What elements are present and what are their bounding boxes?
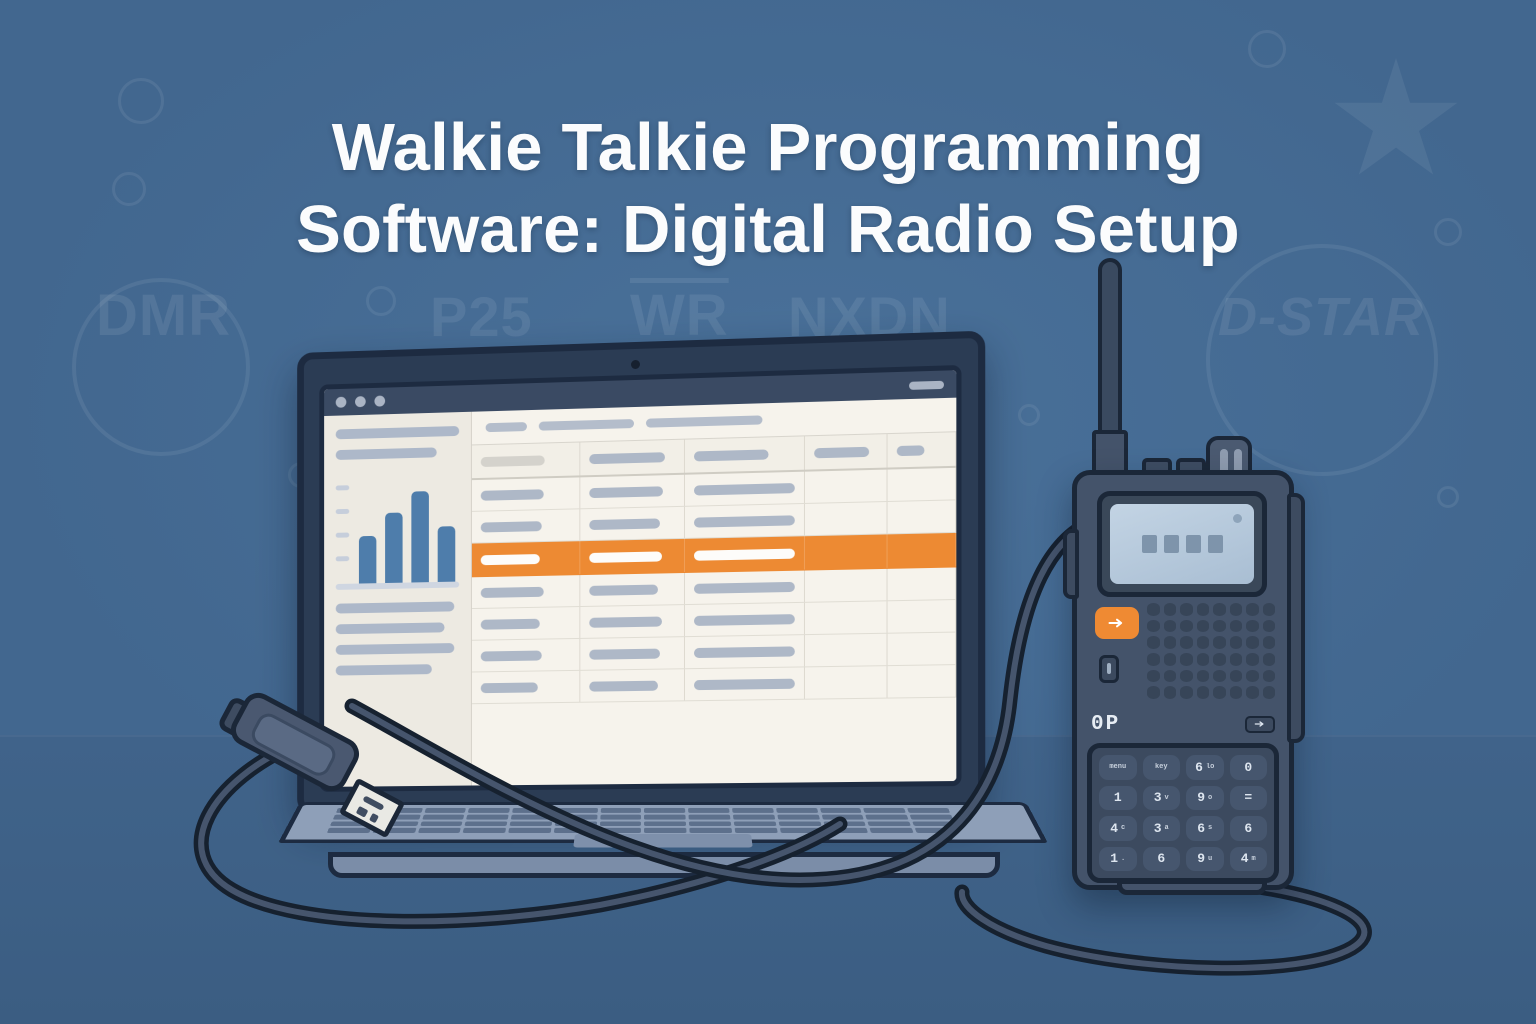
table-cell[interactable] <box>685 603 805 636</box>
laptop-bezel <box>319 365 961 792</box>
table-cell[interactable] <box>685 536 805 572</box>
watermark-p25: P25 <box>430 284 533 349</box>
close-dot-icon[interactable] <box>336 397 347 408</box>
handheld-digital-radio: 0P menukey6lo013v9o=4c3a6s61.69u4m <box>1062 258 1312 908</box>
speaker-hole <box>1230 670 1243 683</box>
maximize-dot-icon[interactable] <box>374 396 385 407</box>
keyboard-key[interactable] <box>508 828 551 833</box>
keypad-key-digit: 4 <box>1110 821 1118 836</box>
table-cell-value <box>481 521 542 532</box>
table-header-cell-3[interactable] <box>685 436 805 472</box>
speaker-hole <box>1263 603 1276 616</box>
keyboard-key[interactable] <box>644 808 685 813</box>
keypad-key-digit: = <box>1244 790 1252 805</box>
table-cell-value <box>481 489 544 500</box>
table-cell-value <box>694 646 794 658</box>
table-cell[interactable] <box>805 634 888 667</box>
speaker-hole <box>1246 670 1259 683</box>
decorative-ring-5 <box>1248 30 1286 68</box>
monitor-button[interactable] <box>1099 655 1119 683</box>
table-cell[interactable] <box>805 601 888 634</box>
radio-body: 0P menukey6lo013v9o=4c3a6s61.69u4m <box>1072 470 1294 890</box>
keyboard-key[interactable] <box>688 808 729 813</box>
keyboard-key[interactable] <box>733 815 775 820</box>
table-cell-value <box>481 554 540 565</box>
speaker-hole <box>1230 653 1243 666</box>
keypad-key-14[interactable]: 6 <box>1143 847 1181 872</box>
speaker-hole <box>1230 620 1243 633</box>
table-cell[interactable] <box>580 669 685 702</box>
keyboard-key[interactable] <box>510 821 553 826</box>
speaker-hole <box>1147 670 1160 683</box>
speaker-hole <box>1164 686 1177 699</box>
keyboard-key[interactable] <box>645 828 687 833</box>
keyboard-key[interactable] <box>912 821 956 826</box>
keyboard-row-4 <box>327 828 959 833</box>
ptt-icon <box>1107 617 1127 629</box>
channel-table-panel <box>472 398 956 786</box>
table-cell[interactable] <box>685 635 805 668</box>
speaker-hole <box>1213 686 1226 699</box>
speaker-hole <box>1263 653 1276 666</box>
radio-side-rail <box>1287 493 1305 743</box>
keyboard-key[interactable] <box>825 828 869 833</box>
keyboard-key[interactable] <box>734 821 777 826</box>
table-cell[interactable] <box>888 600 956 633</box>
keyboard-key[interactable] <box>821 815 864 820</box>
keyboard-key[interactable] <box>777 815 819 820</box>
keyboard-key[interactable] <box>420 821 463 826</box>
keypad-key-sublabel: s <box>1208 824 1212 832</box>
speaker-hole <box>1197 670 1210 683</box>
lcd-segment-3 <box>1186 535 1201 553</box>
laptop-keyboard[interactable] <box>327 808 959 833</box>
speaker-hole <box>1197 686 1210 699</box>
keypad-key-sublabel: u <box>1208 855 1212 863</box>
table-cell[interactable] <box>685 667 805 700</box>
keyboard-key[interactable] <box>690 828 733 833</box>
keyboard-key[interactable] <box>910 815 953 820</box>
table-cell[interactable] <box>805 534 888 569</box>
speaker-hole <box>1197 603 1210 616</box>
speaker-hole <box>1180 686 1193 699</box>
keypad-key-digit: 4 <box>1241 851 1249 866</box>
mini-function-icon <box>1253 720 1267 728</box>
keypad-key-sublabel: o <box>1208 794 1212 802</box>
toolbar-chip-2[interactable] <box>539 419 634 431</box>
keypad-key-sublabel: menu <box>1109 763 1126 771</box>
keyboard-key[interactable] <box>600 815 641 820</box>
keyboard-key[interactable] <box>645 821 687 826</box>
page-title: Walkie Talkie Programming Software: Digi… <box>0 107 1536 270</box>
table-cell-value <box>694 515 794 527</box>
table-cell-value <box>481 650 542 661</box>
keypad-key-digit: 9 <box>1197 790 1205 805</box>
keypad-key-11[interactable]: 6s <box>1186 816 1224 841</box>
table-cell[interactable] <box>580 605 685 638</box>
speaker-grille <box>1147 603 1275 699</box>
usb-contact-3 <box>369 813 379 823</box>
speaker-hole <box>1263 670 1276 683</box>
keypad-key-5[interactable]: 1 <box>1099 786 1137 811</box>
table-cell-value <box>589 680 658 691</box>
keyboard-key[interactable] <box>778 821 821 826</box>
mini-function-button[interactable] <box>1245 716 1275 733</box>
usb-adapter-inset <box>248 709 340 779</box>
table-cell[interactable] <box>805 569 888 602</box>
table-cell[interactable] <box>888 500 956 533</box>
keypad-key-digit: 3 <box>1154 821 1162 836</box>
speaker-hole <box>1147 636 1160 649</box>
table-header-label-5 <box>897 445 924 456</box>
table-header-cell-4[interactable] <box>805 434 888 470</box>
laptop-screen <box>324 370 956 787</box>
table-cell[interactable] <box>685 571 805 605</box>
keyboard-key[interactable] <box>907 808 950 813</box>
speaker-hole <box>1213 636 1226 649</box>
table-cell-value <box>589 584 658 595</box>
table-cell-value <box>694 548 794 560</box>
keypad-key-7[interactable]: 9o <box>1186 786 1224 811</box>
speaker-hole <box>1180 620 1193 633</box>
lcd-segment-4 <box>1208 535 1223 553</box>
speaker-hole <box>1263 636 1276 649</box>
table-cell[interactable] <box>580 475 685 509</box>
keypad-key-16[interactable]: 4m <box>1230 847 1268 872</box>
sidebar-label-bottom-2 <box>336 622 445 634</box>
chart-bar-4 <box>438 526 456 582</box>
table-header-label-4 <box>814 446 869 458</box>
lcd-segment-2 <box>1164 535 1179 553</box>
sidebar-top-labels <box>336 426 459 460</box>
antenna-icon <box>1098 258 1122 438</box>
speaker-hole <box>1213 653 1226 666</box>
speaker-hole <box>1180 636 1193 649</box>
keyboard-key[interactable] <box>870 828 914 833</box>
keyboard-key[interactable] <box>554 828 597 833</box>
table-body[interactable] <box>472 468 956 704</box>
table-cell[interactable] <box>472 639 580 672</box>
keyboard-key[interactable] <box>823 821 866 826</box>
keypad-key-12[interactable]: 6 <box>1230 816 1268 841</box>
table-cell[interactable] <box>580 573 685 606</box>
speaker-hole <box>1197 636 1210 649</box>
keyboard-key[interactable] <box>555 821 597 826</box>
table-cell[interactable] <box>472 607 580 640</box>
table-cell-value <box>589 518 660 530</box>
table-cell-value <box>589 616 661 627</box>
keypad-key-digit: 9 <box>1197 851 1205 866</box>
speaker-hole <box>1147 620 1160 633</box>
table-cell-value <box>481 586 544 597</box>
speaker-hole <box>1180 603 1193 616</box>
table-cell[interactable] <box>888 468 956 501</box>
table-row[interactable] <box>472 665 956 704</box>
table-cell[interactable] <box>472 509 580 542</box>
table-cell[interactable] <box>805 470 888 503</box>
speaker-hole <box>1164 620 1177 633</box>
speaker-hole <box>1147 653 1160 666</box>
radio-lcd-display <box>1110 504 1254 584</box>
keyboard-key[interactable] <box>511 815 553 820</box>
speaker-hole <box>1230 686 1243 699</box>
speaker-hole <box>1230 603 1243 616</box>
table-cell[interactable] <box>888 533 956 568</box>
chart-bar-3 <box>411 492 429 583</box>
speaker-hole <box>1263 686 1276 699</box>
sidebar-label-top-2 <box>336 447 437 460</box>
keypad-key-digit: 1 <box>1110 851 1118 866</box>
page-title-line-1: Walkie Talkie Programming <box>332 110 1205 185</box>
minimize-dot-icon[interactable] <box>355 396 366 407</box>
speaker-hole <box>1263 620 1276 633</box>
table-cell[interactable] <box>888 665 956 697</box>
speaker-hole <box>1213 670 1226 683</box>
keypad-key-4[interactable]: 0 <box>1230 755 1268 780</box>
lcd-segment-1 <box>1142 535 1157 553</box>
radio-display-label: 0P <box>1091 713 1120 736</box>
speaker-hole <box>1147 603 1160 616</box>
window-control-pill-icon[interactable] <box>909 380 944 389</box>
keypad-key-digit: 3 <box>1154 790 1162 805</box>
speaker-hole <box>1164 670 1177 683</box>
keyboard-key[interactable] <box>732 808 774 813</box>
speaker-hole <box>1197 653 1210 666</box>
keyboard-key[interactable] <box>915 828 959 833</box>
keyboard-key[interactable] <box>689 815 731 820</box>
table-cell-value <box>589 551 661 563</box>
radio-bottom-clip <box>1117 879 1267 895</box>
antenna-base <box>1092 430 1128 474</box>
radio-keypad[interactable]: menukey6lo013v9o=4c3a6s61.69u4m <box>1087 743 1279 883</box>
chart-bar-2 <box>385 513 402 583</box>
keypad-key-10[interactable]: 3a <box>1143 816 1181 841</box>
chart-y-tick-1 <box>336 485 350 490</box>
keyboard-key[interactable] <box>512 808 554 813</box>
table-header-cell-1[interactable] <box>472 442 580 478</box>
speaker-hole <box>1213 603 1226 616</box>
keyboard-key[interactable] <box>466 815 508 820</box>
toolbar-chip-1[interactable] <box>486 422 527 432</box>
table-header-label-1 <box>481 455 545 467</box>
table-cell[interactable] <box>685 472 805 506</box>
decorative-ring-7 <box>1437 486 1459 508</box>
table-cell-value <box>481 618 540 629</box>
table-header-label-2 <box>589 452 665 464</box>
chart-y-tick-2 <box>336 509 350 514</box>
table-cell[interactable] <box>888 633 956 666</box>
keypad-key-digit: 0 <box>1244 760 1252 775</box>
table-cell[interactable] <box>805 502 888 535</box>
keypad-key-3[interactable]: 6lo <box>1186 755 1224 780</box>
trackpad[interactable] <box>573 834 753 848</box>
keyboard-key[interactable] <box>424 808 466 813</box>
chart-baseline <box>336 582 459 590</box>
table-cell-value <box>481 682 538 693</box>
table-cell[interactable] <box>888 567 956 600</box>
table-cell[interactable] <box>472 671 580 703</box>
keyboard-key[interactable] <box>689 821 731 826</box>
keyboard-row-3 <box>330 821 956 826</box>
keyboard-key[interactable] <box>465 821 508 826</box>
table-cell[interactable] <box>805 666 888 699</box>
keypad-key-15[interactable]: 9u <box>1186 847 1224 872</box>
ptt-button[interactable] <box>1095 607 1139 639</box>
keyboard-key[interactable] <box>863 808 906 813</box>
keypad-key-digit: 1 <box>1114 790 1122 805</box>
table-cell[interactable] <box>580 539 685 574</box>
usb-contact-2 <box>356 806 369 818</box>
decorative-ring-4 <box>366 286 396 316</box>
keyboard-key[interactable] <box>735 828 778 833</box>
keypad-key-sublabel: . <box>1121 855 1125 863</box>
table-cell[interactable] <box>472 575 580 608</box>
table-cell[interactable] <box>472 541 580 576</box>
keypad-key-digit: 6 <box>1195 760 1203 775</box>
speaker-hole <box>1246 653 1259 666</box>
speaker-hole <box>1197 620 1210 633</box>
keypad-key-sublabel: a <box>1165 824 1169 832</box>
sidebar-bar-chart <box>336 469 459 590</box>
keyboard-key[interactable] <box>868 821 911 826</box>
keyboard-key[interactable] <box>556 808 597 813</box>
usb-cable-housing <box>215 700 395 850</box>
table-header-cell-5[interactable] <box>888 432 956 467</box>
monitor-button-ridge <box>1107 663 1111 674</box>
keyboard-key[interactable] <box>463 828 506 833</box>
laptop-front-edge <box>328 852 1000 878</box>
keypad-key-13[interactable]: 1. <box>1099 847 1137 872</box>
keyboard-row-1 <box>336 808 950 813</box>
keyboard-key[interactable] <box>644 815 685 820</box>
table-cell[interactable] <box>685 504 805 538</box>
webcam-icon <box>631 360 640 369</box>
table-cell-value <box>694 614 794 626</box>
chart-y-ticks <box>336 469 459 472</box>
speaker-hole <box>1164 636 1177 649</box>
speaker-hole <box>1230 636 1243 649</box>
keyboard-key[interactable] <box>600 821 642 826</box>
speaker-hole <box>1246 636 1259 649</box>
table-cell[interactable] <box>580 637 685 670</box>
keyboard-key[interactable] <box>866 815 909 820</box>
table-cell-value <box>694 581 794 593</box>
keyboard-key[interactable] <box>422 815 465 820</box>
keypad-key-sublabel: v <box>1165 794 1169 802</box>
sidebar-label-top-1 <box>336 426 459 439</box>
usb-adapter-body <box>225 687 364 797</box>
sidebar-label-bottom-4 <box>336 664 432 675</box>
keypad-key-6[interactable]: 3v <box>1143 786 1181 811</box>
keyboard-key[interactable] <box>418 828 462 833</box>
keyboard-key[interactable] <box>820 808 862 813</box>
sidebar-label-bottom-1 <box>336 601 454 613</box>
chart-bars <box>359 479 455 584</box>
toolbar-chip-3[interactable] <box>646 415 762 427</box>
speaker-hole <box>1180 653 1193 666</box>
keyboard-key[interactable] <box>780 828 823 833</box>
keypad-key-sublabel: lo <box>1206 763 1214 771</box>
keyboard-key[interactable] <box>555 815 597 820</box>
table-cell[interactable] <box>580 507 685 540</box>
speaker-hole <box>1164 653 1177 666</box>
signal-indicator-dot-icon <box>1233 514 1242 523</box>
table-cell-value <box>694 483 794 496</box>
table-header-label-3 <box>694 449 768 461</box>
sidebar-bottom-labels <box>336 601 459 675</box>
radio-label-row: 0P <box>1091 709 1275 739</box>
table-cell-value <box>589 486 663 498</box>
speaker-hole <box>1246 620 1259 633</box>
table-header-cell-2[interactable] <box>580 440 685 476</box>
side-function-button[interactable] <box>1063 529 1079 599</box>
keypad-key-sublabel: m <box>1252 855 1256 863</box>
speaker-hole <box>1213 620 1226 633</box>
speaker-hole <box>1147 686 1160 699</box>
keyboard-key[interactable] <box>600 808 641 813</box>
keypad-key-sublabel: key <box>1155 763 1168 771</box>
radio-lcd-frame <box>1097 491 1267 597</box>
keypad-key-digit: 6 <box>1197 821 1205 836</box>
keyboard-key[interactable] <box>776 808 818 813</box>
keypad-key-8[interactable]: = <box>1230 786 1268 811</box>
keypad-key-2[interactable]: key <box>1143 755 1181 780</box>
speaker-hole <box>1246 603 1259 616</box>
speaker-hole <box>1180 670 1193 683</box>
keypad-key-digit: 6 <box>1244 821 1252 836</box>
keypad-key-sublabel: c <box>1121 824 1125 832</box>
speaker-hole <box>1246 686 1259 699</box>
laptop-lid <box>297 331 985 815</box>
keypad-key-1[interactable]: menu <box>1099 755 1137 780</box>
chart-y-tick-4 <box>336 556 350 561</box>
table-cell-value <box>589 648 660 659</box>
sidebar-label-bottom-3 <box>336 643 454 655</box>
keyboard-row-2 <box>333 815 953 820</box>
app-body <box>324 398 956 787</box>
keypad-key-digit: 6 <box>1157 851 1165 866</box>
poster-canvas: DMRP25WRNXDND-STAR Walkie Talkie Program… <box>0 0 1536 1024</box>
table-cell[interactable] <box>472 477 580 510</box>
keyboard-key[interactable] <box>468 808 510 813</box>
keyboard-key[interactable] <box>599 828 641 833</box>
watermark-dmr: DMR <box>96 282 231 349</box>
table-cell-value <box>694 678 794 690</box>
keypad-key-9[interactable]: 4c <box>1099 816 1137 841</box>
speaker-hole <box>1164 603 1177 616</box>
chart-y-tick-3 <box>336 533 350 538</box>
chart-bar-1 <box>359 536 376 584</box>
